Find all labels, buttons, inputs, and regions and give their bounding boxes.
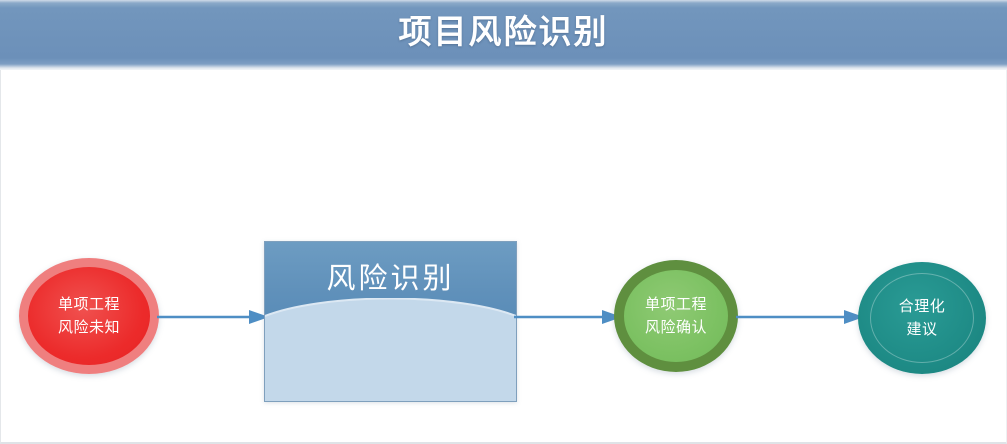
flow-node-risk-confirmed-label: 单项工程 风险确认 [645,293,707,339]
flow-node-risk-confirmed[interactable]: 单项工程 风险确认 [614,260,738,372]
flow-node-risk-unknown[interactable]: 单项工程 风险未知 [19,258,159,374]
flow-node-rational-suggestion-label: 合理化 建议 [899,295,946,341]
slide-canvas: 项目风险识别 单项工程 风险未知 风险识别 单项工程 风险确 [0,0,1007,444]
flow-node-rational-suggestion[interactable]: 合理化 建议 [858,262,986,374]
flow-node-risk-unknown-label: 单项工程 风险未知 [58,293,120,339]
diagram-area: 单项工程 风险未知 风险识别 单项工程 风险确认 [0,70,1007,444]
slide-title-bar: 项目风险识别 [0,0,1007,70]
arrow-right-icon-3 [736,308,864,326]
page-title: 项目风险识别 [0,9,1007,55]
flow-node-risk-identification-label: 风险识别 [265,260,516,298]
process-box-wave-divider [264,298,517,402]
arrow-right-icon-1 [157,308,269,326]
arrow-right-icon-2 [514,308,622,326]
flow-node-risk-identification[interactable]: 风险识别 [264,241,517,402]
